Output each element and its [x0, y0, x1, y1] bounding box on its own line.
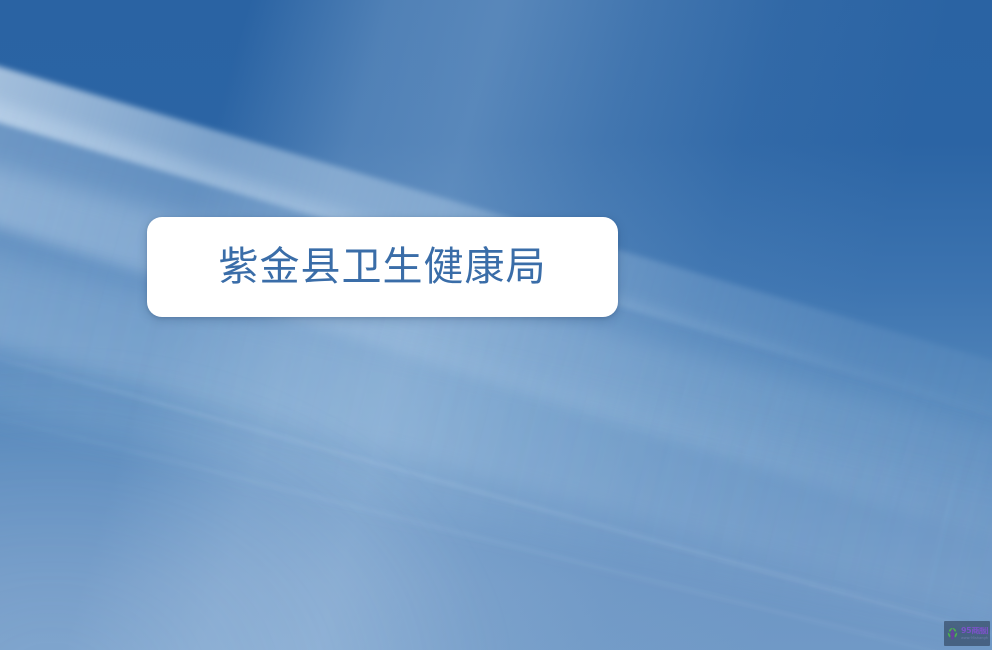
watermark-brand: 95商服网: [961, 627, 988, 635]
corner-glow: [0, 360, 500, 650]
page-title: 紫金县卫生健康局: [219, 247, 547, 287]
watermark-subtitle: www.95shangfu.com: [961, 637, 988, 640]
screen: 紫金县卫生健康局 95商服网 www.95shangfu.com: [0, 0, 992, 650]
title-card: 紫金县卫生健康局: [147, 217, 618, 317]
watermark: 95商服网 www.95shangfu.com: [944, 621, 990, 646]
watermark-logo-icon: [946, 626, 959, 641]
watermark-text: 95商服网 www.95shangfu.com: [961, 627, 988, 640]
